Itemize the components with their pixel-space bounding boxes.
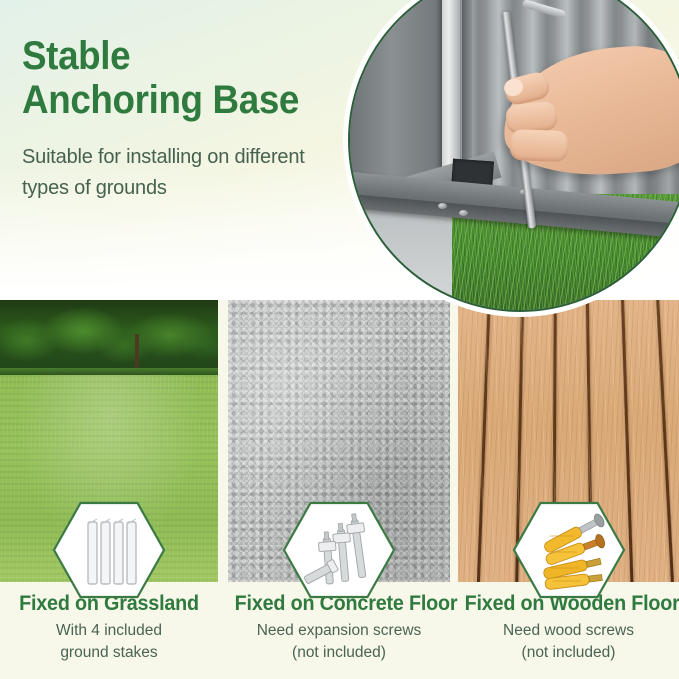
panel-wooden [458, 300, 679, 582]
page-subtitle-line2: types of grounds [22, 173, 382, 204]
page-title-line2: Anchoring Base [22, 78, 353, 122]
caption-desc-line2: ground stakes [0, 642, 218, 664]
badge-wood-screws [512, 500, 626, 600]
expansion-screws-icon [282, 500, 396, 600]
caption-desc-line1: Need expansion screws [228, 620, 450, 642]
ground-type-panels [0, 300, 679, 582]
caption-desc-concrete: Need expansion screws (not included) [228, 620, 450, 664]
panel-grassland [0, 300, 218, 582]
page-subtitle-line1: Suitable for installing on different [22, 142, 382, 173]
caption-desc-grassland: With 4 included ground stakes [0, 620, 218, 664]
trees-icon [0, 300, 218, 373]
hero-photo-ring [348, 0, 679, 312]
panel-concrete [228, 300, 450, 582]
bolt-icon [459, 210, 468, 216]
caption-desc-line2: (not included) [228, 642, 450, 664]
caption-desc-line1: Need wood screws [458, 620, 679, 642]
badge-ground-stakes [52, 500, 166, 600]
hero-photo-circle [348, 0, 679, 290]
heading-block: Stable Anchoring Base Suitable for insta… [22, 34, 382, 204]
badge-expansion-screws [282, 500, 396, 600]
page-subtitle: Suitable for installing on different typ… [22, 142, 382, 204]
wood-screws-icon [512, 500, 626, 600]
caption-desc-line1: With 4 included [0, 620, 218, 642]
hero-photo-image [350, 0, 679, 310]
caption-desc-line2: (not included) [458, 642, 679, 664]
ground-stakes-icon [52, 500, 166, 600]
page-title-line1: Stable [22, 34, 353, 78]
caption-desc-wooden: Need wood screws (not included) [458, 620, 679, 664]
finger-icon [509, 129, 568, 162]
infographic-canvas: Stable Anchoring Base Suitable for insta… [0, 0, 679, 679]
